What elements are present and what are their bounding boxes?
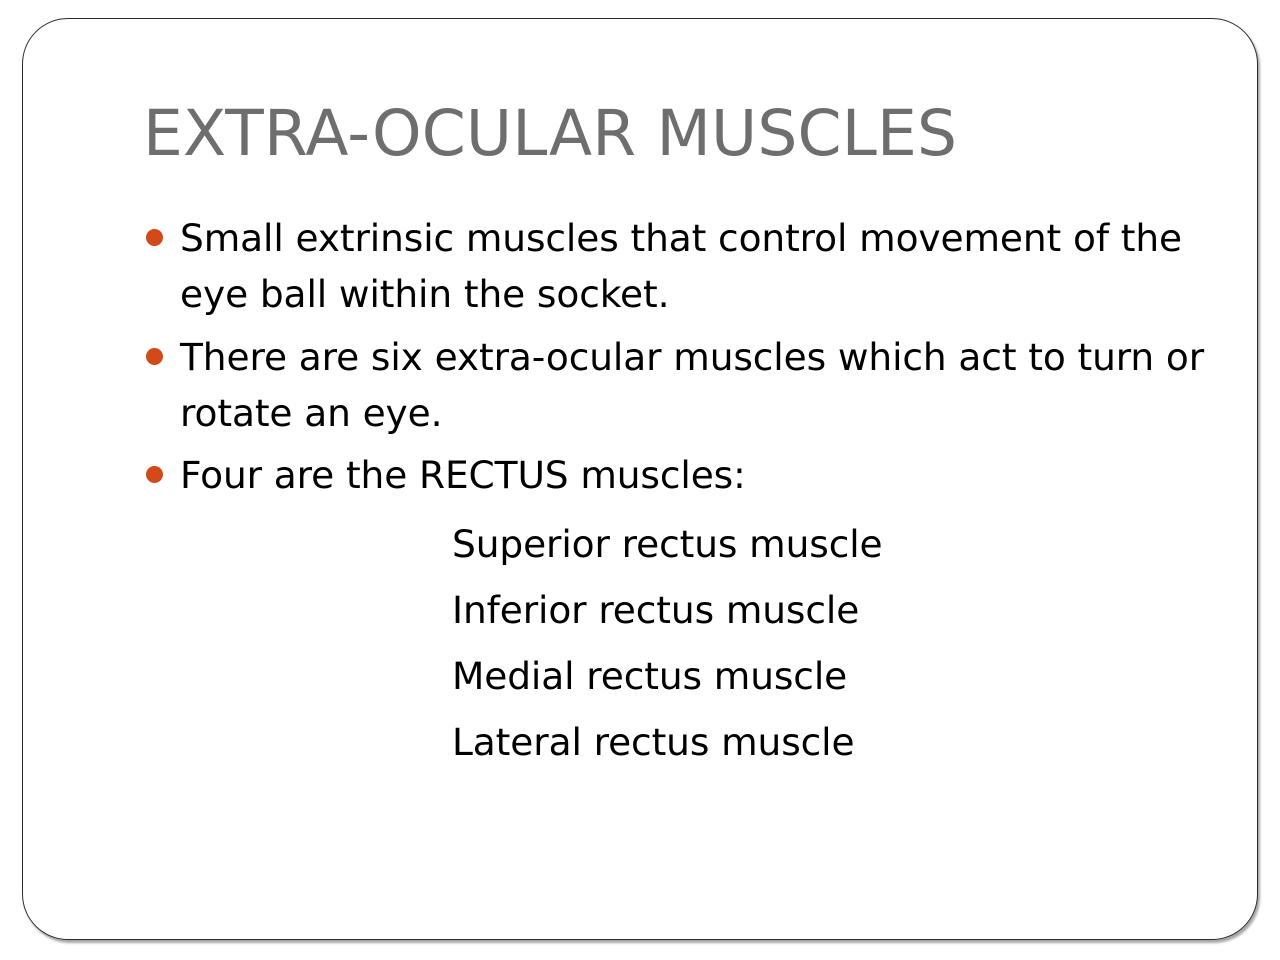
- bullet-list: Small extrinsic muscles that control mov…: [143, 210, 1218, 503]
- slide-body: Small extrinsic muscles that control mov…: [143, 210, 1218, 775]
- list-item: There are six extra-ocular muscles which…: [143, 329, 1218, 442]
- list-item-label: Four are the RECTUS muscles:: [180, 453, 746, 497]
- presentation-slide: EXTRA-OCULAR MUSCLES Small extrinsic mus…: [0, 0, 1280, 960]
- sublist-item-lateral-rectus: Lateral rectus muscle: [452, 709, 1218, 775]
- page-title: EXTRA-OCULAR MUSCLES: [143, 100, 1143, 168]
- sublist-item-superior-rectus: Superior rectus muscle: [452, 511, 1218, 577]
- sublist-item-medial-rectus: Medial rectus muscle: [452, 643, 1218, 709]
- list-item-label: Small extrinsic muscles that control mov…: [180, 216, 1182, 316]
- sublist-item-inferior-rectus: Inferior rectus muscle: [452, 577, 1218, 643]
- list-item-label: There are six extra-ocular muscles which…: [180, 335, 1204, 435]
- rectus-muscle-sublist: Superior rectus muscle Inferior rectus m…: [143, 511, 1218, 775]
- filled-circle-bullet-icon: [146, 229, 163, 246]
- filled-circle-bullet-icon: [146, 348, 163, 365]
- list-item: Four are the RECTUS muscles:: [143, 447, 1218, 503]
- list-item: Small extrinsic muscles that control mov…: [143, 210, 1218, 323]
- filled-circle-bullet-icon: [146, 466, 163, 483]
